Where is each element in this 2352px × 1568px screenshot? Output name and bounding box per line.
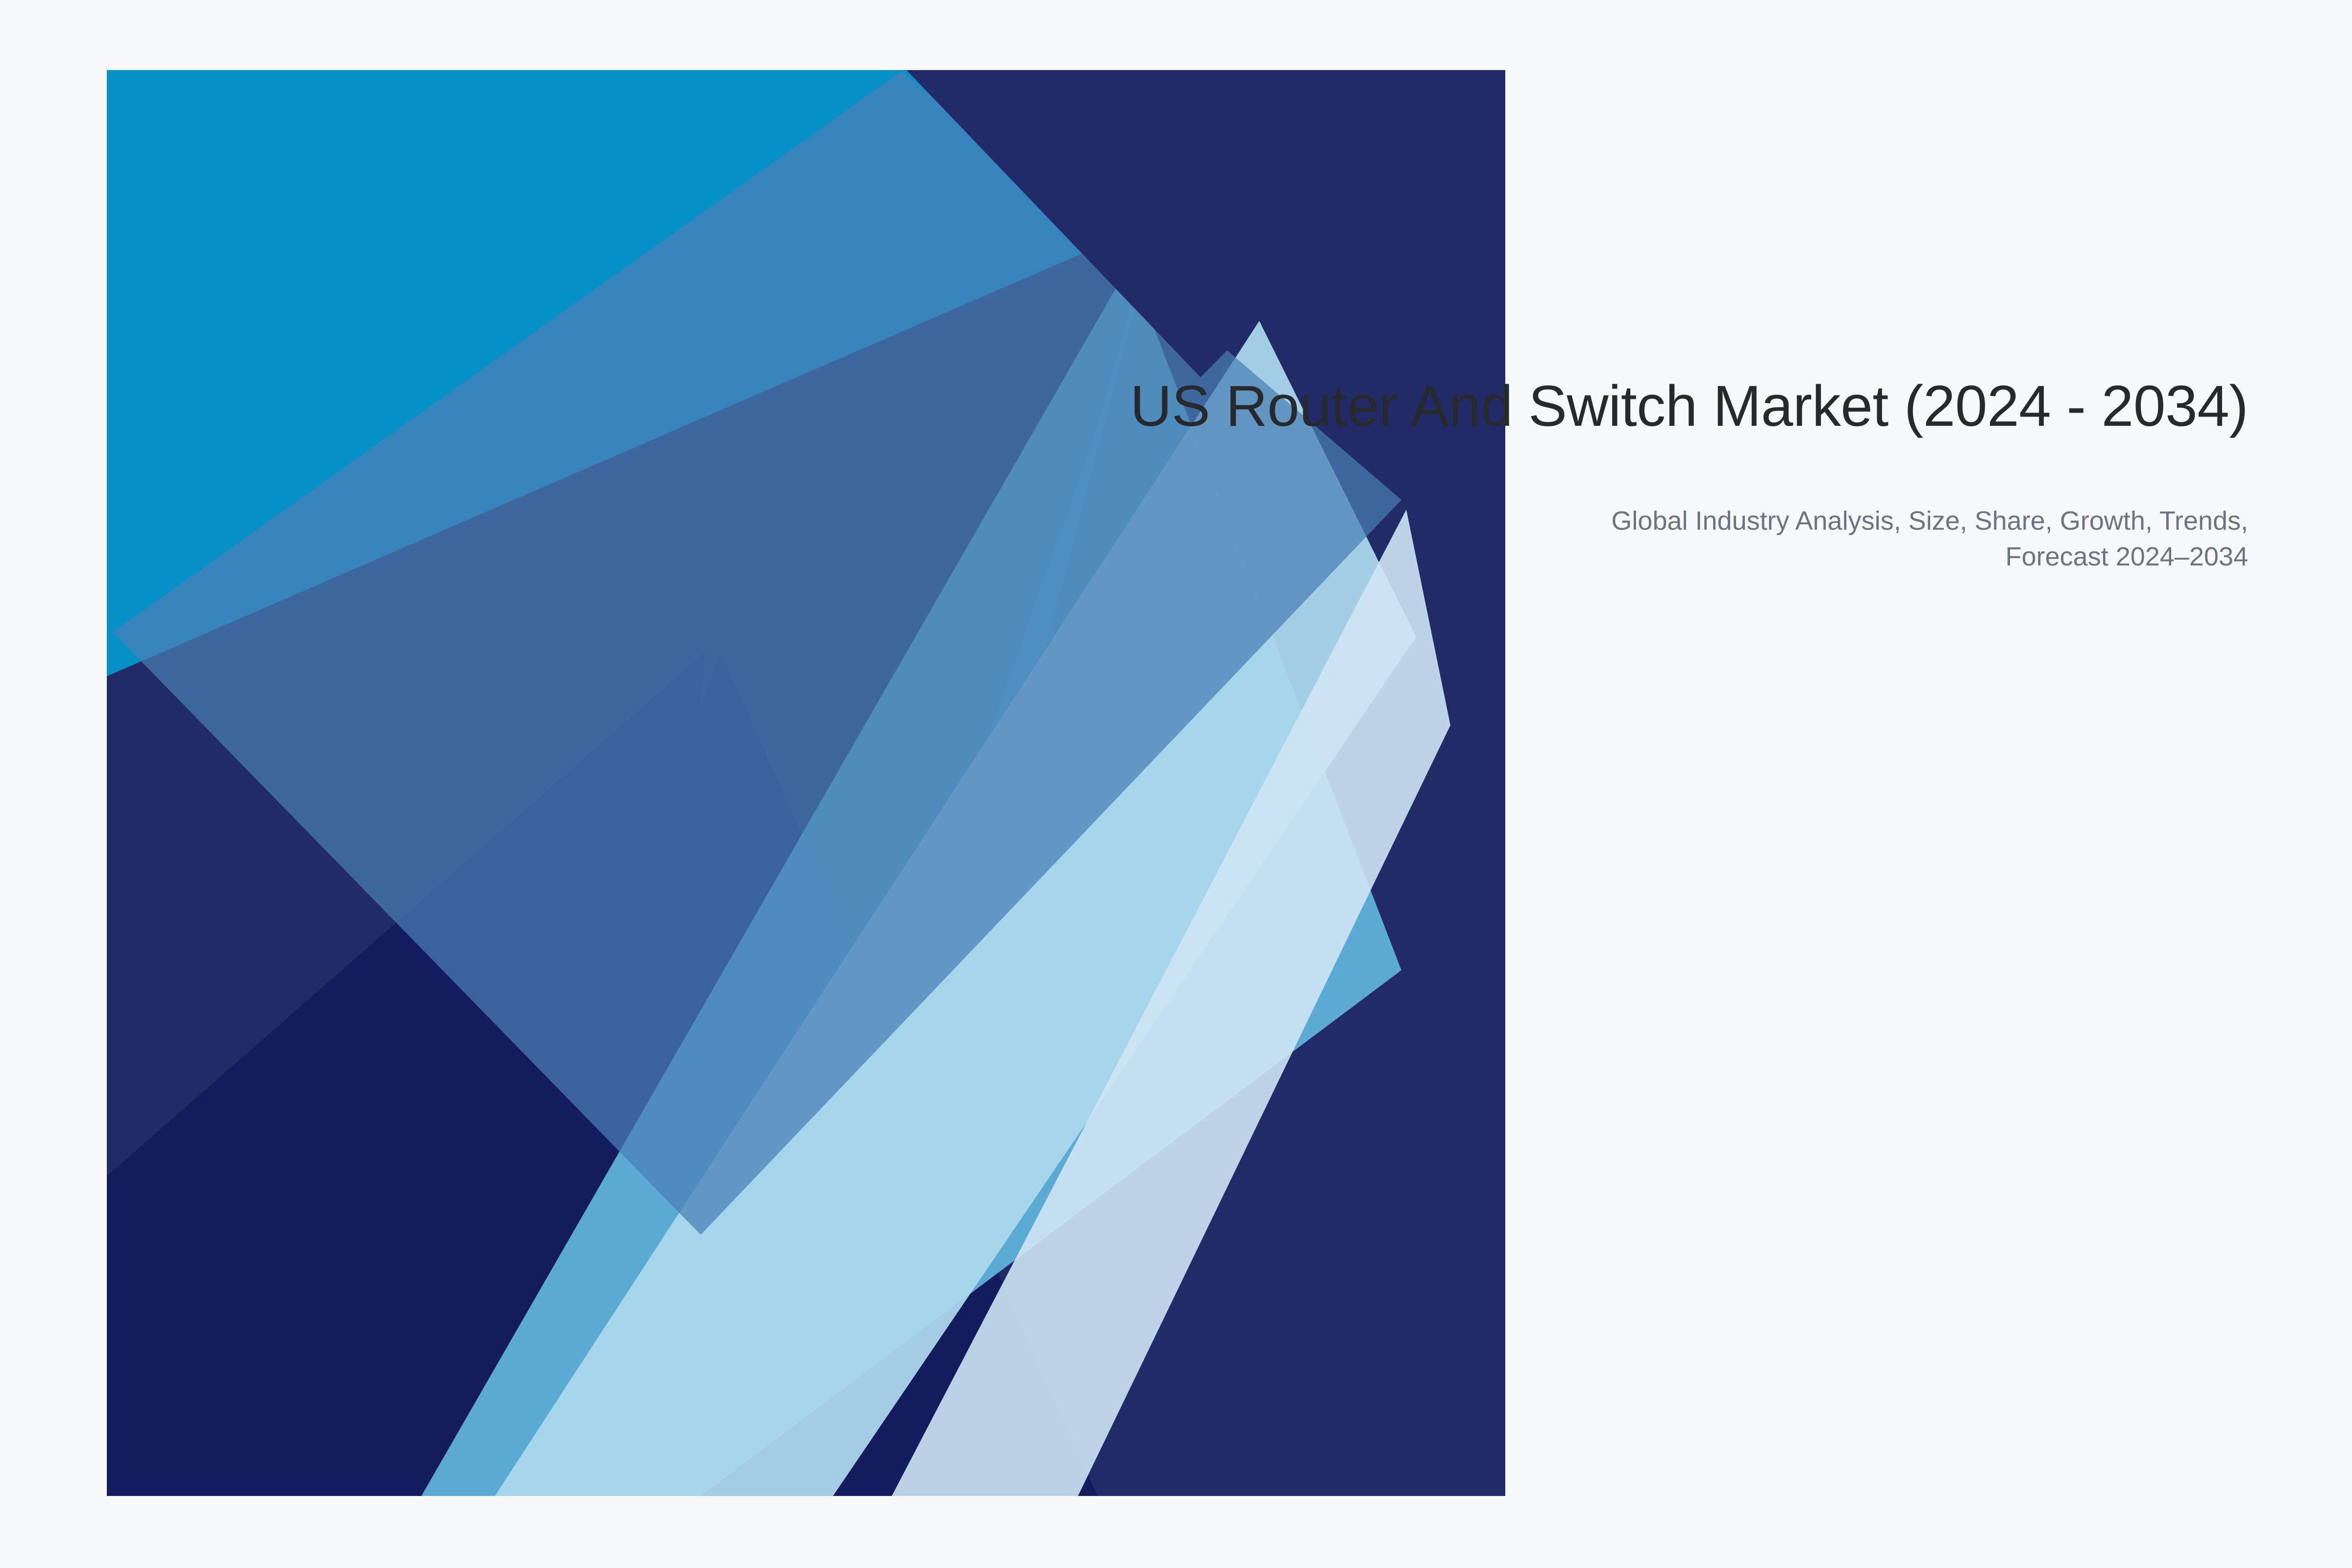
cover-text-block: US Router And Switch Market (2024 - 2034… (837, 372, 2248, 574)
page-title: US Router And Switch Market (2024 - 2034… (837, 372, 2248, 441)
shape-cyan-field (107, 70, 1505, 1496)
shape-deep-navy-spear (107, 652, 706, 1496)
abstract-geometric-artwork (0, 0, 2352, 1568)
shape-steel-blue-overlay (113, 71, 1401, 1235)
shape-cyan-spike (833, 78, 1196, 1176)
shape-pale-blue-sliver (892, 510, 1450, 1496)
cover-slide: US Router And Switch Market (2024 - 2034… (0, 0, 2352, 1568)
page-subtitle: Global Industry Analysis, Size, Share, G… (1543, 503, 2248, 574)
shape-navy-corner-triangle (906, 70, 1505, 377)
title-wrapper: US Router And Switch Market (2024 - 2034… (837, 372, 2248, 441)
shape-navy-wedge (107, 70, 1505, 1496)
shape-deep-navy-blade (412, 652, 1098, 1496)
